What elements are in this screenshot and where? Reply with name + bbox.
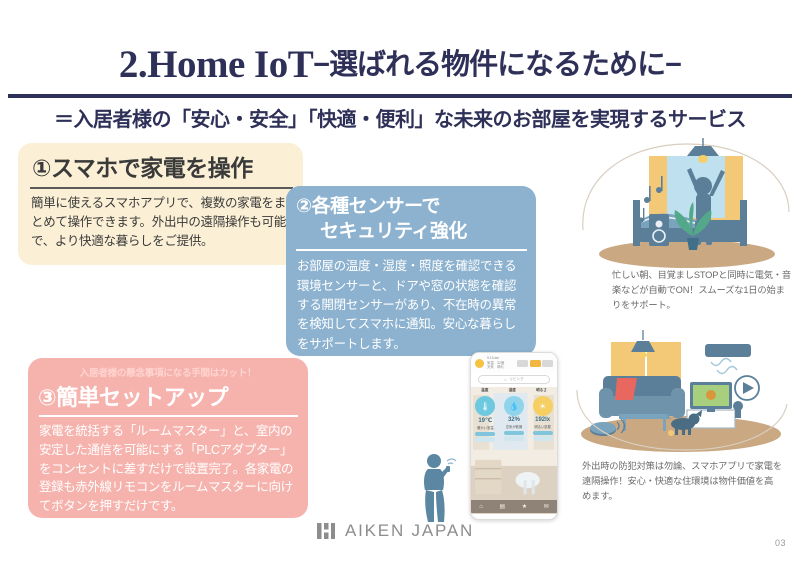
sensor-caption-temperature: 暖かい室温 [473, 425, 498, 430]
bedroom-illustration [575, 138, 795, 273]
card3-heading: ③簡単セットアップ [28, 379, 308, 414]
app-status-bar: 9:15 am 気温 32度 天気 晴れ [471, 353, 557, 373]
card2-heading-line2: セキュリティ強化 [296, 219, 536, 244]
logo-text: AIKEN JAPAN [345, 521, 474, 541]
sensor-widget-illuminance[interactable]: ☀ 192lx 明るい部屋 [530, 396, 555, 441]
person-with-phone-silhouette [412, 452, 458, 524]
thermometer-icon: 🌡 [475, 396, 495, 416]
humidity-action-2[interactable] [504, 436, 524, 441]
card1-divider [30, 187, 293, 189]
humidity-actions[interactable] [501, 431, 526, 441]
living-room-illustration [575, 330, 793, 455]
card-sensor-security: ②各種センサーで セキュリティ強化 お部屋の温度・湿度・照度を確認できる環境セン… [286, 186, 536, 356]
card2-divider [296, 249, 527, 251]
sensor-value-illuminance: 192lx [530, 417, 555, 423]
room-selector-icon: ⌂ [504, 378, 506, 382]
mode-chip-1[interactable] [517, 360, 528, 367]
app-status-text: 9:15 am 気温 32度 天気 晴れ [487, 356, 514, 370]
card1-heading: ①スマホで家電を操作 [18, 143, 303, 186]
list-icon[interactable]: ▤ [499, 503, 505, 510]
weather-sun-icon [475, 359, 484, 368]
sensor-caption-humidity: 空気が乾燥 [501, 424, 526, 429]
sensor-labels: 温度 湿度 明るさ [471, 388, 557, 393]
card2-heading: ②各種センサーで セキュリティ強化 [286, 186, 536, 244]
company-logo: AIKEN JAPAN [316, 521, 474, 541]
sensor-widgets: 🌡 19℃ 暖かい室温 💧 32% 空気が乾燥 [471, 396, 557, 442]
title-main-text: 2.Home IoT [119, 43, 313, 86]
aiken-logo-mark-icon [316, 521, 336, 541]
living-room-note: 外出時の防犯対策は勿論、スマホアプリで家電を遠隔操作！安心・快適な住環境は物件価… [582, 459, 782, 504]
card2-heading-line1: ②各種センサーで [296, 196, 440, 217]
card-easy-setup: 入居者様の懸念事項になる手間はカット！ ③簡単セットアップ 家電を統括する「ルー… [28, 358, 308, 518]
droplet-icon: 💧 [504, 396, 524, 416]
page-number: 03 [775, 538, 786, 548]
mode-chip-3[interactable] [542, 360, 553, 367]
app-bottom-nav[interactable]: ⌂ ▤ ★ ✉ [471, 500, 557, 513]
sensor-caption-illuminance: 明るい部屋 [530, 424, 555, 429]
card3-body: 家電を統括する「ルームマスター」と、室内の安定した通信を可能にする「PLCアダプ… [28, 422, 308, 516]
temperature-action-2[interactable] [475, 437, 495, 442]
sensor-widget-temperature[interactable]: 🌡 19℃ 暖かい室温 [473, 396, 498, 442]
home-icon[interactable]: ⌂ [479, 504, 483, 510]
sensor-label-2: 明るさ [536, 388, 547, 393]
star-icon[interactable]: ★ [522, 503, 527, 510]
mode-chip-2-active[interactable] [530, 360, 541, 367]
temperature-actions[interactable] [473, 432, 498, 442]
illuminance-action-2[interactable] [533, 436, 553, 441]
card3-divider [39, 415, 298, 417]
room-selector-label: リビング [509, 377, 523, 382]
sensor-label-1: 湿度 [509, 388, 516, 393]
room-selector[interactable]: ⌂ リビング [478, 375, 550, 384]
sensor-widget-humidity[interactable]: 💧 32% 空気が乾燥 [501, 396, 526, 441]
title-sub-text: −選ばれる物件になるために− [313, 49, 681, 81]
app-mode-chips[interactable] [517, 360, 553, 367]
bedroom-note: 忙しい朝、目覚ましSTOPと同時に電気・音楽などが自動でON！スムーズな1日の始… [612, 268, 792, 313]
temperature-action-1[interactable] [475, 432, 495, 437]
sensor-value-temperature: 19℃ [473, 417, 498, 424]
humidity-action-1[interactable] [504, 431, 524, 436]
illuminance-actions[interactable] [530, 431, 555, 441]
sensor-value-humidity: 32% [501, 417, 526, 423]
smartphone-app-mockup[interactable]: 9:15 am 気温 32度 天気 晴れ ⌂ リビング [470, 352, 558, 520]
sensor-label-0: 温度 [481, 388, 488, 393]
mail-icon[interactable]: ✉ [544, 503, 549, 510]
status-weather: 天気 晴れ [487, 365, 514, 370]
page-subtitle: ＝入居者様の「安心・安全」「快適・便利」な未来のお部屋を実現するサービス [0, 103, 800, 132]
card-smart-appliance-control: ①スマホで家電を操作 簡単に使えるスマホアプリで、複数の家電をまとめて操作できま… [18, 143, 303, 265]
page-title: 2.Home IoT−選ばれる物件になるために− [0, 42, 800, 87]
title-divider [8, 94, 792, 98]
illuminance-action-1[interactable] [533, 431, 553, 436]
sun-icon: ☀ [533, 396, 553, 416]
card3-kicker: 入居者様の懸念事項になる手間はカット！ [28, 358, 308, 379]
card2-body: お部屋の温度・湿度・照度を確認できる環境センサーと、ドアや窓の状態を確認する開閉… [286, 257, 536, 354]
app-dashboard: 温度 湿度 明るさ 🌡 19℃ 暖かい室温 💧 32% 空気が乾燥 [471, 387, 557, 513]
slide-root: 2.Home IoT−選ばれる物件になるために− ＝入居者様の「安心・安全」「快… [0, 0, 800, 566]
card1-body: 簡単に使えるスマホアプリで、複数の家電をまとめて操作できます。外出中の遠隔操作も… [18, 194, 303, 251]
